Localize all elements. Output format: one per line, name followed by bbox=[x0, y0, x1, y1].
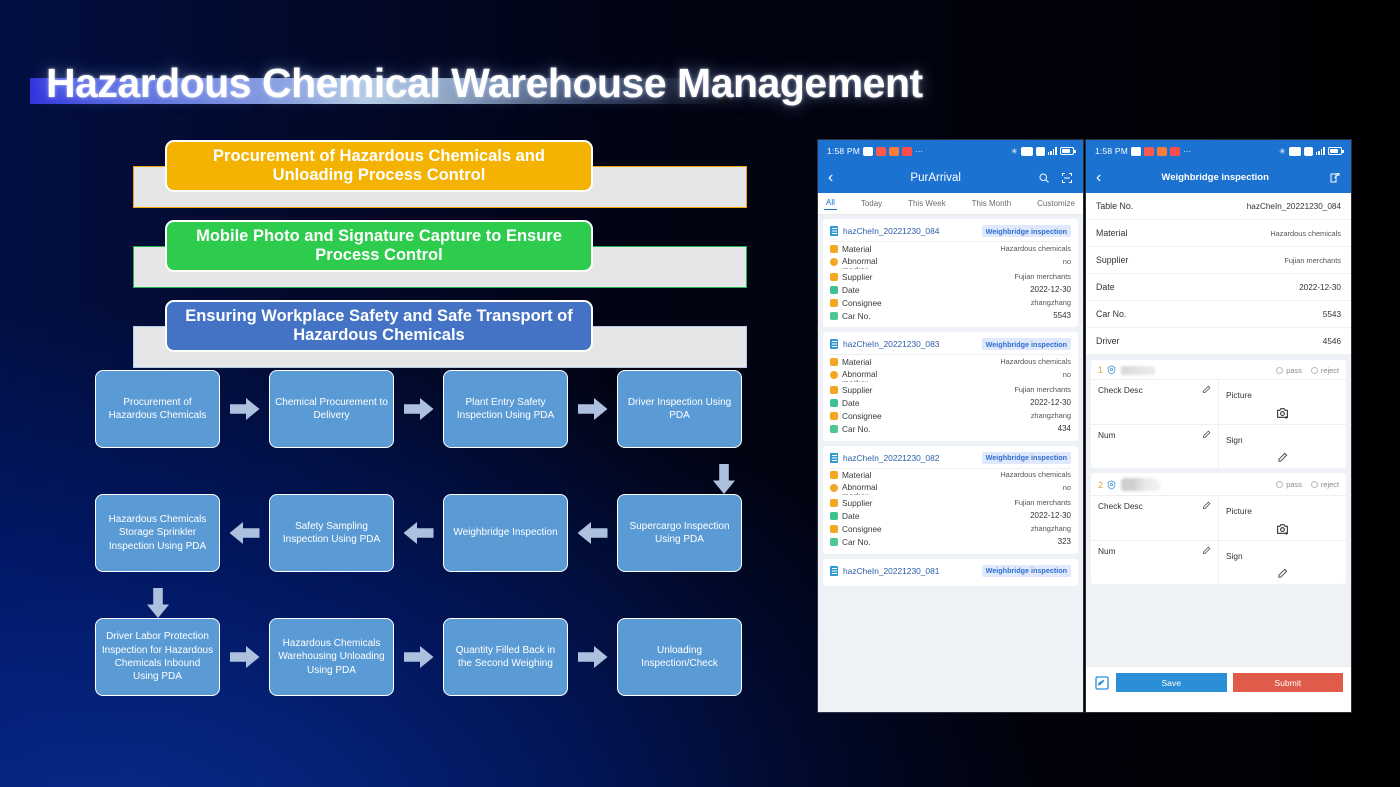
table-row: Consigneezhangzhang bbox=[830, 523, 1071, 536]
flow-box-driver-inspection: Driver Inspection Using PDA bbox=[617, 370, 742, 448]
field-sign[interactable]: Sign bbox=[1219, 425, 1346, 468]
signature-pencil-icon[interactable] bbox=[1277, 568, 1288, 579]
row-label: Driver bbox=[1096, 336, 1119, 346]
flow-arrow-gap bbox=[220, 370, 269, 448]
table-row: SupplierFujian merchants bbox=[830, 384, 1071, 397]
signal-icon bbox=[1048, 147, 1057, 155]
table-row: Date2022-12-30 bbox=[830, 510, 1071, 523]
flow-arrow-gap bbox=[394, 494, 443, 572]
radio-reject[interactable]: reject bbox=[1311, 480, 1339, 489]
signature-pencil-icon[interactable] bbox=[1277, 452, 1288, 463]
camera-add-icon[interactable] bbox=[1276, 407, 1289, 419]
document-icon bbox=[830, 566, 838, 576]
table-row: Date2022-12-30 bbox=[830, 283, 1071, 296]
app-icon-red bbox=[1144, 147, 1154, 156]
tab-customize[interactable]: Customize bbox=[1035, 199, 1077, 208]
cell-value: zhangzhang bbox=[1031, 411, 1071, 420]
status-bar: 1:58 PM ··· ✳ bbox=[818, 140, 1083, 162]
item-number: 1 bbox=[1098, 365, 1103, 375]
table-row: Table No.hazCheIn_20221230_084 bbox=[1086, 193, 1351, 220]
pencil-icon[interactable] bbox=[1202, 430, 1211, 439]
page-title: Hazardous Chemical Warehouse Management bbox=[46, 60, 923, 107]
warning-icon bbox=[830, 484, 838, 492]
material-icon bbox=[830, 245, 838, 253]
cell-value: 2022-12-30 bbox=[1030, 511, 1071, 520]
table-row: Consigneezhangzhang bbox=[830, 296, 1071, 309]
row-value: 4546 bbox=[1323, 337, 1341, 346]
filler-area bbox=[1086, 594, 1351, 666]
table-row: Car No.5543 bbox=[830, 309, 1071, 322]
shield-icon bbox=[1107, 365, 1116, 375]
app-icon-red bbox=[876, 147, 886, 156]
row-label: Date bbox=[1096, 282, 1115, 292]
cell-value: no bbox=[1063, 257, 1071, 266]
inspection-item-grid: Check Desc Picture Num bbox=[1091, 495, 1346, 584]
warning-icon bbox=[830, 258, 838, 266]
card-header: hazCheIn_20221230_081 Weighbridge inspec… bbox=[830, 563, 1071, 581]
mobile-screenshots: 1:58 PM ··· ✳ ‹ PurArrival Al bbox=[812, 140, 1357, 720]
filter-tabs: All Today This Week This Month Customize bbox=[818, 193, 1083, 215]
radio-pass[interactable]: pass bbox=[1276, 366, 1302, 375]
flow-box-chemical-procurement: Chemical Procurement to Delivery bbox=[269, 370, 394, 448]
cell-value: Hazardous chemicals bbox=[1000, 470, 1071, 479]
flow-box-warehousing-unloading: Hazardous Chemicals Warehousing Unloadin… bbox=[269, 618, 394, 696]
alarm-icon bbox=[1131, 147, 1141, 156]
flow-box-supercargo: Supercargo Inspection Using PDA bbox=[617, 494, 742, 572]
document-icon bbox=[830, 226, 838, 236]
arrow-right-icon bbox=[404, 397, 434, 421]
process-flow-diagram: Procurement of Hazardous Chemicals Chemi… bbox=[95, 370, 775, 712]
item-label-blurred bbox=[1121, 366, 1155, 375]
inspection-detail-table: Table No.hazCheIn_20221230_084 MaterialH… bbox=[1086, 193, 1351, 355]
list-item[interactable]: hazCheIn_20221230_083 Weighbridge inspec… bbox=[823, 332, 1078, 440]
material-icon bbox=[830, 358, 838, 366]
row-label: Supplier bbox=[1096, 255, 1128, 265]
banner-chip-procurement: Procurement of Hazardous Chemicals and U… bbox=[165, 140, 593, 192]
inspection-items: 1 pass reject Check Desc bbox=[1086, 355, 1351, 594]
document-icon bbox=[830, 339, 838, 349]
card-doc-no: hazCheIn_20221230_084 bbox=[830, 226, 939, 236]
flow-arrow-gap bbox=[394, 618, 443, 696]
radio-reject[interactable]: reject bbox=[1311, 366, 1339, 375]
edit-icon[interactable] bbox=[1094, 675, 1110, 691]
car-icon bbox=[830, 425, 838, 433]
arrow-left-icon bbox=[230, 521, 260, 545]
arrival-list[interactable]: hazCheIn_20221230_084 Weighbridge inspec… bbox=[818, 215, 1083, 712]
car-icon bbox=[830, 312, 838, 320]
table-row: MaterialHazardous chemicals bbox=[830, 242, 1071, 255]
battery-icon bbox=[1328, 147, 1342, 155]
flow-row-3: Driver Labor Protection Inspection for H… bbox=[95, 618, 775, 712]
field-picture[interactable]: Picture bbox=[1219, 380, 1346, 424]
nav-title: Weighbridge inspection bbox=[1101, 172, 1329, 183]
more-dots-icon: ··· bbox=[915, 147, 923, 156]
flow-arrow-gap bbox=[220, 618, 269, 696]
material-icon bbox=[830, 471, 838, 479]
calendar-icon bbox=[830, 399, 838, 407]
status-badge: Weighbridge inspection bbox=[982, 565, 1071, 577]
flow-arrow-gap bbox=[568, 618, 617, 696]
arrow-right-icon bbox=[230, 397, 260, 421]
field-num[interactable]: Num bbox=[1091, 541, 1219, 584]
bluetooth-icon: ✳ bbox=[1279, 147, 1286, 156]
table-row: Driver4546 bbox=[1086, 328, 1351, 355]
cell-value: zhangzhang bbox=[1031, 524, 1071, 533]
row-value: Hazardous chemicals bbox=[1270, 229, 1341, 238]
action-bar: Save Submit bbox=[1086, 666, 1351, 698]
scan-icon[interactable] bbox=[1061, 172, 1073, 184]
search-icon[interactable] bbox=[1038, 172, 1050, 184]
save-button[interactable]: Save bbox=[1116, 673, 1227, 692]
flow-row-1: Procurement of Hazardous Chemicals Chemi… bbox=[95, 370, 775, 464]
supplier-icon bbox=[830, 273, 838, 281]
banner-row: Ensuring Workplace Safety and Safe Trans… bbox=[0, 300, 800, 372]
field-check-desc[interactable]: Check Desc bbox=[1091, 496, 1219, 540]
document-icon bbox=[830, 453, 838, 463]
banner-chip-mobile-capture: Mobile Photo and Signature Capture to En… bbox=[165, 220, 593, 272]
table-row: Car No.5543 bbox=[1086, 301, 1351, 328]
table-row: Car No.434 bbox=[830, 423, 1071, 436]
item-number: 2 bbox=[1098, 480, 1103, 490]
cell-value: Fujian merchants bbox=[1014, 385, 1071, 394]
status-badge: Weighbridge inspection bbox=[982, 452, 1071, 464]
row-value: hazCheIn_20221230_084 bbox=[1247, 202, 1341, 211]
table-row: SupplierFujian merchants bbox=[830, 497, 1071, 510]
calendar-icon bbox=[830, 286, 838, 294]
flow-arrow-gap bbox=[394, 370, 443, 448]
arrow-right-icon bbox=[578, 645, 608, 669]
title-area: Hazardous Chemical Warehouse Management bbox=[0, 26, 1010, 104]
table-row: MaterialHazardous chemicals bbox=[830, 355, 1071, 368]
row-value: 2022-12-30 bbox=[1299, 283, 1341, 292]
supplier-icon bbox=[830, 499, 838, 507]
flow-box-storage-sprinkler: Hazardous Chemicals Storage Sprinkler In… bbox=[95, 494, 220, 572]
banner-row: Procurement of Hazardous Chemicals and U… bbox=[0, 140, 800, 212]
supplier-icon bbox=[830, 386, 838, 394]
cell-value: 2022-12-30 bbox=[1030, 285, 1071, 294]
table-row: MaterialHazardous chemicals bbox=[1086, 220, 1351, 247]
status-badge: Weighbridge inspection bbox=[982, 225, 1071, 237]
phone-weighbridge-inspection: 1:58 PM ··· ✳ ‹ Weighbridge inspection bbox=[1086, 140, 1351, 712]
row-value: 5543 bbox=[1323, 310, 1341, 319]
edit-square-icon[interactable] bbox=[1329, 172, 1341, 184]
field-check-desc[interactable]: Check Desc bbox=[1091, 380, 1219, 424]
app-icon-red2 bbox=[1170, 147, 1180, 156]
flow-box-driver-labor-protection: Driver Labor Protection Inspection for H… bbox=[95, 618, 220, 696]
table-row: Date2022-12-30 bbox=[830, 397, 1071, 410]
inspection-item-header: 2 pass reject bbox=[1091, 473, 1346, 495]
banner-row: Mobile Photo and Signature Capture to En… bbox=[0, 220, 800, 292]
inspection-item-grid: Check Desc Picture Num bbox=[1091, 379, 1346, 468]
flow-arrow-gap bbox=[220, 494, 269, 572]
banner-list: Procurement of Hazardous Chemicals and U… bbox=[0, 140, 800, 380]
row-label: Table No. bbox=[1096, 201, 1133, 211]
list-item[interactable]: hazCheIn_20221230_082 Weighbridge inspec… bbox=[823, 446, 1078, 554]
pencil-icon[interactable] bbox=[1202, 501, 1211, 510]
status-bar: 1:58 PM ··· ✳ bbox=[1086, 140, 1351, 162]
arrow-right-icon bbox=[578, 397, 608, 421]
cell-value: 323 bbox=[1058, 537, 1071, 546]
inspection-item[interactable]: 1 pass reject Check Desc bbox=[1091, 360, 1346, 468]
flow-box-weighbridge: Weighbridge Inspection bbox=[443, 494, 568, 572]
row-value: Fujian merchants bbox=[1284, 256, 1341, 265]
cell-value: 2022-12-30 bbox=[1030, 398, 1071, 407]
pencil-icon[interactable] bbox=[1202, 546, 1211, 555]
arrow-right-icon bbox=[230, 645, 260, 669]
tab-today[interactable]: Today bbox=[859, 199, 884, 208]
field-sign[interactable]: Sign bbox=[1219, 541, 1346, 584]
list-item[interactable]: hazCheIn_20221230_081 Weighbridge inspec… bbox=[823, 559, 1078, 586]
table-row: SupplierFujian merchants bbox=[830, 270, 1071, 283]
car-icon bbox=[830, 538, 838, 546]
flow-box-second-weighing: Quantity Filled Back in the Second Weigh… bbox=[443, 618, 568, 696]
nav-title: PurArrival bbox=[833, 172, 1038, 184]
status-time: 1:58 PM bbox=[1095, 146, 1128, 156]
arrow-left-icon bbox=[404, 521, 434, 545]
table-row: Abnormalmarkerno bbox=[830, 482, 1071, 497]
signal-icon bbox=[1316, 147, 1325, 155]
cell-value: zhangzhang bbox=[1031, 298, 1071, 307]
card-doc-no: hazCheIn_20221230_082 bbox=[830, 453, 939, 463]
person-icon bbox=[830, 412, 838, 420]
row-label: Car No. bbox=[1096, 309, 1126, 319]
table-row: MaterialHazardous chemicals bbox=[830, 469, 1071, 482]
person-icon bbox=[830, 525, 838, 533]
cell-value: Hazardous chemicals bbox=[1000, 244, 1071, 253]
flow-arrow-gap bbox=[568, 494, 617, 572]
row-label: Material bbox=[1096, 228, 1127, 238]
shield-icon bbox=[1107, 480, 1116, 490]
tab-this-week[interactable]: This Week bbox=[906, 199, 948, 208]
card-doc-no: hazCheIn_20221230_081 bbox=[830, 566, 939, 576]
alarm-icon bbox=[863, 147, 873, 156]
warning-icon bbox=[830, 371, 838, 379]
arrow-right-icon bbox=[404, 645, 434, 669]
tab-this-month[interactable]: This Month bbox=[970, 199, 1014, 208]
table-row: Abnormalmarkerno bbox=[830, 368, 1071, 383]
vpn-icon bbox=[1021, 147, 1033, 156]
flow-arrow-gap bbox=[568, 370, 617, 448]
wifi-badge-icon bbox=[1036, 147, 1045, 156]
camera-add-icon[interactable] bbox=[1276, 523, 1289, 535]
list-item[interactable]: hazCheIn_20221230_084 Weighbridge inspec… bbox=[823, 219, 1078, 327]
cell-value: Hazardous chemicals bbox=[1000, 357, 1071, 366]
flow-box-procurement: Procurement of Hazardous Chemicals bbox=[95, 370, 220, 448]
person-icon bbox=[830, 299, 838, 307]
card-header: hazCheIn_20221230_082 Weighbridge inspec… bbox=[830, 450, 1071, 469]
cell-value: 434 bbox=[1058, 424, 1071, 433]
table-row: SupplierFujian merchants bbox=[1086, 247, 1351, 274]
flow-connector-row bbox=[95, 464, 775, 494]
table-row: Car No.323 bbox=[830, 536, 1071, 549]
wifi-badge-icon bbox=[1304, 147, 1313, 156]
pencil-icon[interactable] bbox=[1202, 385, 1211, 394]
cell-value: Fujian merchants bbox=[1014, 498, 1071, 507]
inspection-item[interactable]: 2 pass reject Check Desc bbox=[1091, 473, 1346, 584]
radio-pass[interactable]: pass bbox=[1276, 480, 1302, 489]
app-icon-red2 bbox=[902, 147, 912, 156]
cell-value: 5543 bbox=[1053, 311, 1071, 320]
table-row: Abnormalmarkerno bbox=[830, 255, 1071, 270]
status-badge: Weighbridge inspection bbox=[982, 338, 1071, 350]
nav-bar: ‹ PurArrival bbox=[818, 162, 1083, 193]
arrow-down-icon bbox=[712, 464, 736, 494]
app-icon-orange bbox=[1157, 147, 1167, 156]
arrow-left-icon bbox=[578, 521, 608, 545]
vpn-icon bbox=[1289, 147, 1301, 156]
more-dots-icon: ··· bbox=[1183, 147, 1191, 156]
flow-box-unloading-inspection: Unloading Inspection/Check bbox=[617, 618, 742, 696]
status-time: 1:58 PM bbox=[827, 146, 860, 156]
battery-icon bbox=[1060, 147, 1074, 155]
flow-row-2: Hazardous Chemicals Storage Sprinkler In… bbox=[95, 494, 775, 588]
tab-all[interactable]: All bbox=[824, 198, 837, 210]
cell-value: Fujian merchants bbox=[1014, 272, 1071, 281]
banner-chip-workplace-safety: Ensuring Workplace Safety and Safe Trans… bbox=[165, 300, 593, 352]
phone-purarrival-list: 1:58 PM ··· ✳ ‹ PurArrival Al bbox=[818, 140, 1083, 712]
card-header: hazCheIn_20221230_083 Weighbridge inspec… bbox=[830, 336, 1071, 355]
arrow-down-icon bbox=[146, 588, 170, 618]
flow-box-plant-entry: Plant Entry Safety Inspection Using PDA bbox=[443, 370, 568, 448]
item-label-blurred bbox=[1121, 478, 1161, 491]
calendar-icon bbox=[830, 512, 838, 520]
app-icon-orange bbox=[889, 147, 899, 156]
field-num[interactable]: Num bbox=[1091, 425, 1219, 468]
table-row: Consigneezhangzhang bbox=[830, 410, 1071, 423]
flow-connector-row bbox=[95, 588, 775, 618]
table-row: Date2022-12-30 bbox=[1086, 274, 1351, 301]
bluetooth-icon: ✳ bbox=[1011, 147, 1018, 156]
flow-box-safety-sampling: Safety Sampling Inspection Using PDA bbox=[269, 494, 394, 572]
inspection-item-header: 1 pass reject bbox=[1091, 360, 1346, 379]
card-doc-no: hazCheIn_20221230_083 bbox=[830, 339, 939, 349]
card-header: hazCheIn_20221230_084 Weighbridge inspec… bbox=[830, 223, 1071, 242]
cell-value: no bbox=[1063, 370, 1071, 379]
nav-bar: ‹ Weighbridge inspection bbox=[1086, 162, 1351, 193]
cell-value: no bbox=[1063, 483, 1071, 492]
field-picture[interactable]: Picture bbox=[1219, 496, 1346, 540]
submit-button[interactable]: Submit bbox=[1233, 673, 1344, 692]
